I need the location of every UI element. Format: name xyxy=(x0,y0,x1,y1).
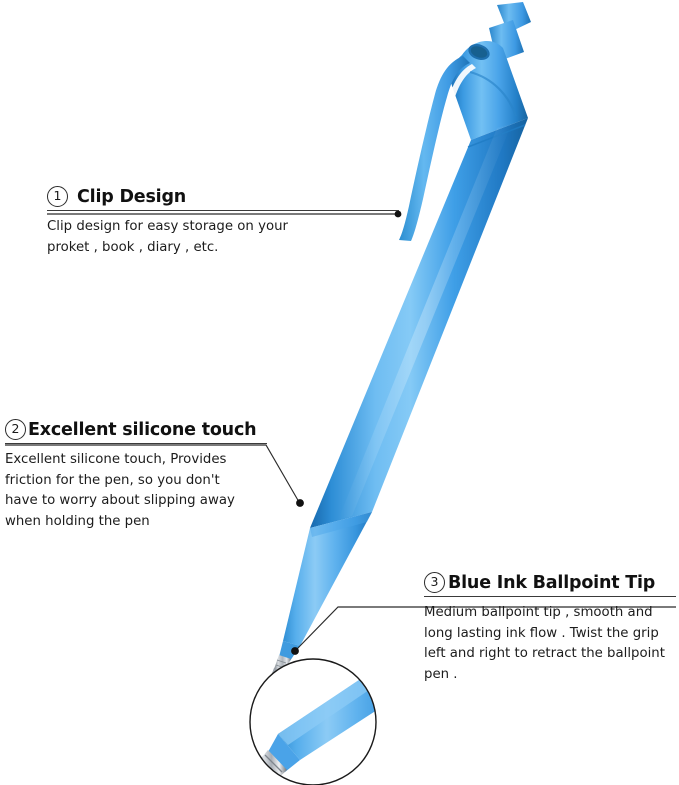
callout-1-header: 1 Clip Design xyxy=(47,186,399,207)
callout-1-body: Clip design for easy storage on your pro… xyxy=(47,217,347,258)
callout-1-number-badge: 1 xyxy=(47,186,68,207)
callout-2-number-badge: 2 xyxy=(5,419,26,440)
callout-3-title: Blue Ink Ballpoint Tip xyxy=(448,573,655,593)
callout-2-header: 2 Excellent silicone touch xyxy=(5,419,267,440)
callout-2-divider xyxy=(5,443,267,444)
callout-silicone-touch: 2 Excellent silicone touch Excellent sil… xyxy=(5,419,267,532)
callout-2-title: Excellent silicone touch xyxy=(28,420,256,440)
callout-3-header: 3 Blue Ink Ballpoint Tip xyxy=(424,572,676,593)
callout-1-title: Clip Design xyxy=(77,187,186,207)
callout-ballpoint-tip: 3 Blue Ink Ballpoint Tip Medium ballpoin… xyxy=(424,572,676,685)
callout-3-body: Medium ballpoint tip , smooth and long l… xyxy=(424,603,670,685)
leader-dot-3 xyxy=(291,647,299,655)
leader-dot-2 xyxy=(296,499,304,507)
callout-3-number-badge: 3 xyxy=(424,572,445,593)
callout-2-body: Excellent silicone touch, Provides frict… xyxy=(5,450,253,532)
tip-detail-magnifier xyxy=(250,658,414,785)
callout-1-divider xyxy=(47,210,399,211)
infographic-page: 1 Clip Design Clip design for easy stora… xyxy=(0,0,679,785)
callout-clip-design: 1 Clip Design Clip design for easy stora… xyxy=(47,186,399,258)
callout-3-divider xyxy=(424,596,676,597)
